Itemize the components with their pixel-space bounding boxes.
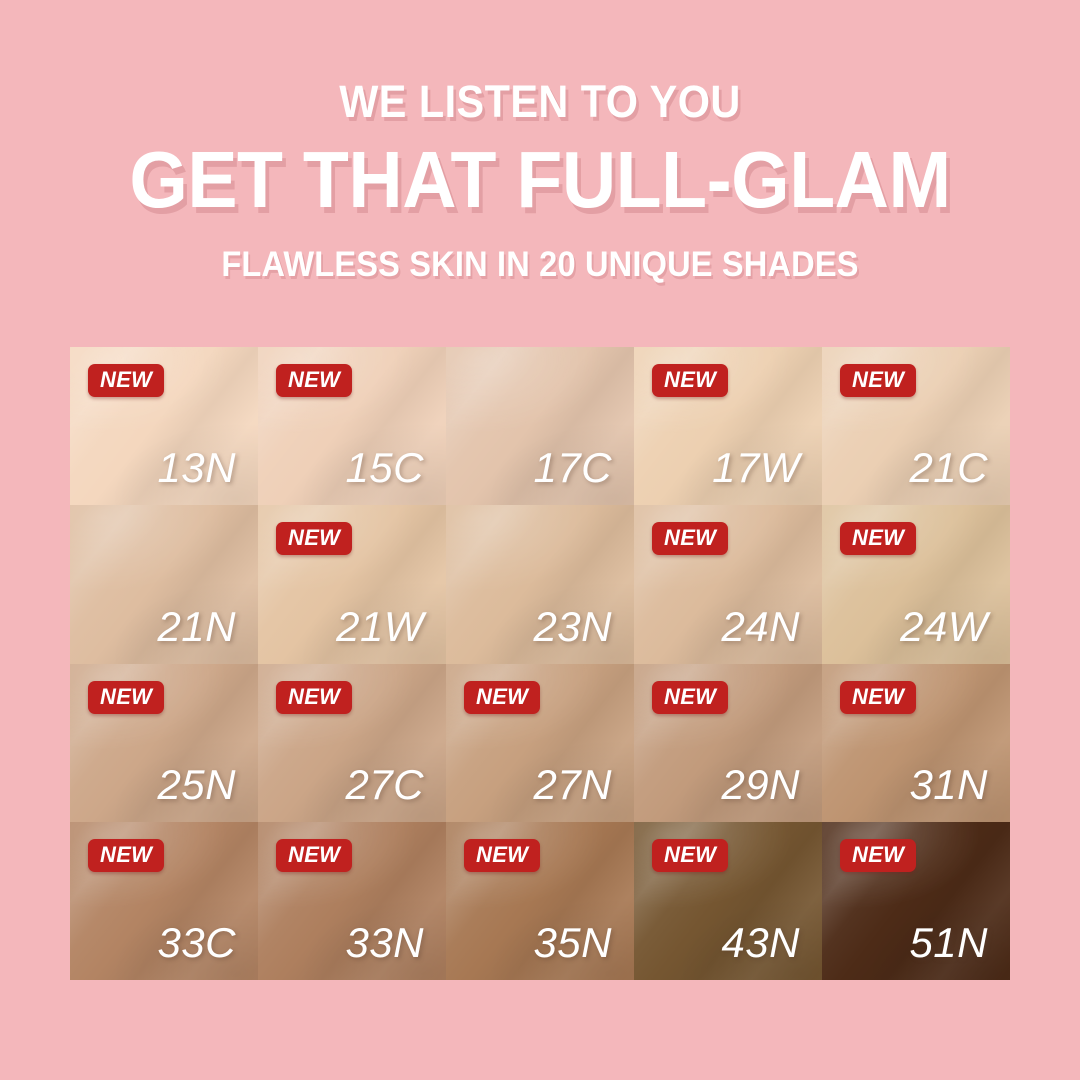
shade-swatch[interactable]: 17C — [446, 347, 634, 505]
shade-code-label: 51N — [909, 922, 988, 964]
shade-code-label: 25N — [157, 764, 236, 806]
new-badge: NEW — [652, 364, 728, 397]
shade-swatch[interactable]: 23N — [446, 505, 634, 663]
shade-swatch[interactable]: NEW24N — [634, 505, 822, 663]
shade-swatch[interactable]: NEW13N — [70, 347, 258, 505]
new-badge: NEW — [840, 522, 916, 555]
shade-swatch[interactable]: NEW31N — [822, 664, 1010, 822]
shade-swatch[interactable]: NEW35N — [446, 822, 634, 980]
shade-code-label: 24W — [900, 606, 988, 648]
shade-code-label: 33N — [345, 922, 424, 964]
shade-swatch[interactable]: NEW17W — [634, 347, 822, 505]
shade-swatch[interactable]: NEW43N — [634, 822, 822, 980]
shade-swatch[interactable]: NEW15C — [258, 347, 446, 505]
new-badge: NEW — [88, 839, 164, 872]
new-badge: NEW — [652, 522, 728, 555]
new-badge: NEW — [276, 364, 352, 397]
new-badge: NEW — [276, 681, 352, 714]
shade-swatch[interactable]: NEW25N — [70, 664, 258, 822]
shade-swatch[interactable]: NEW51N — [822, 822, 1010, 980]
new-badge: NEW — [840, 839, 916, 872]
header-subline: FLAWLESS SKIN IN 20 UNIQUE SHADES — [38, 246, 1042, 285]
new-badge: NEW — [276, 522, 352, 555]
new-badge: NEW — [88, 364, 164, 397]
new-badge: NEW — [276, 839, 352, 872]
new-badge: NEW — [464, 839, 540, 872]
new-badge: NEW — [652, 681, 728, 714]
promo-header: WE LISTEN TO YOU GET THAT FULL-GLAM FLAW… — [0, 0, 1080, 284]
header-eyebrow: WE LISTEN TO YOU — [43, 78, 1037, 125]
shade-swatch[interactable]: 21N — [70, 505, 258, 663]
shade-swatch[interactable]: NEW27N — [446, 664, 634, 822]
shade-swatch[interactable]: NEW21C — [822, 347, 1010, 505]
shade-code-label: 27C — [345, 764, 424, 806]
shade-code-label: 29N — [721, 764, 800, 806]
shade-code-label: 31N — [909, 764, 988, 806]
shade-swatch[interactable]: NEW33C — [70, 822, 258, 980]
shade-code-label: 23N — [533, 606, 612, 648]
shade-code-label: 21N — [157, 606, 236, 648]
shade-swatch[interactable]: NEW27C — [258, 664, 446, 822]
shade-code-label: 43N — [721, 922, 800, 964]
shade-code-label: 17W — [712, 447, 800, 489]
shade-swatch[interactable]: NEW33N — [258, 822, 446, 980]
shade-code-label: 21W — [336, 606, 424, 648]
shade-code-label: 17C — [533, 447, 612, 489]
shade-code-label: 21C — [909, 447, 988, 489]
shade-code-label: 27N — [533, 764, 612, 806]
new-badge: NEW — [464, 681, 540, 714]
shade-swatch[interactable]: NEW29N — [634, 664, 822, 822]
shade-swatch[interactable]: NEW24W — [822, 505, 1010, 663]
shade-code-label: 13N — [157, 447, 236, 489]
shade-code-label: 33C — [157, 922, 236, 964]
new-badge: NEW — [840, 681, 916, 714]
shade-code-label: 35N — [533, 922, 612, 964]
shade-swatch[interactable]: NEW21W — [258, 505, 446, 663]
shade-code-label: 24N — [721, 606, 800, 648]
header-headline: GET THAT FULL-GLAM — [32, 137, 1047, 223]
shade-code-label: 15C — [345, 447, 424, 489]
shade-swatch-grid: NEW13NNEW15C17CNEW17WNEW21C21NNEW21W23NN… — [70, 347, 1010, 980]
new-badge: NEW — [840, 364, 916, 397]
new-badge: NEW — [652, 839, 728, 872]
new-badge: NEW — [88, 681, 164, 714]
